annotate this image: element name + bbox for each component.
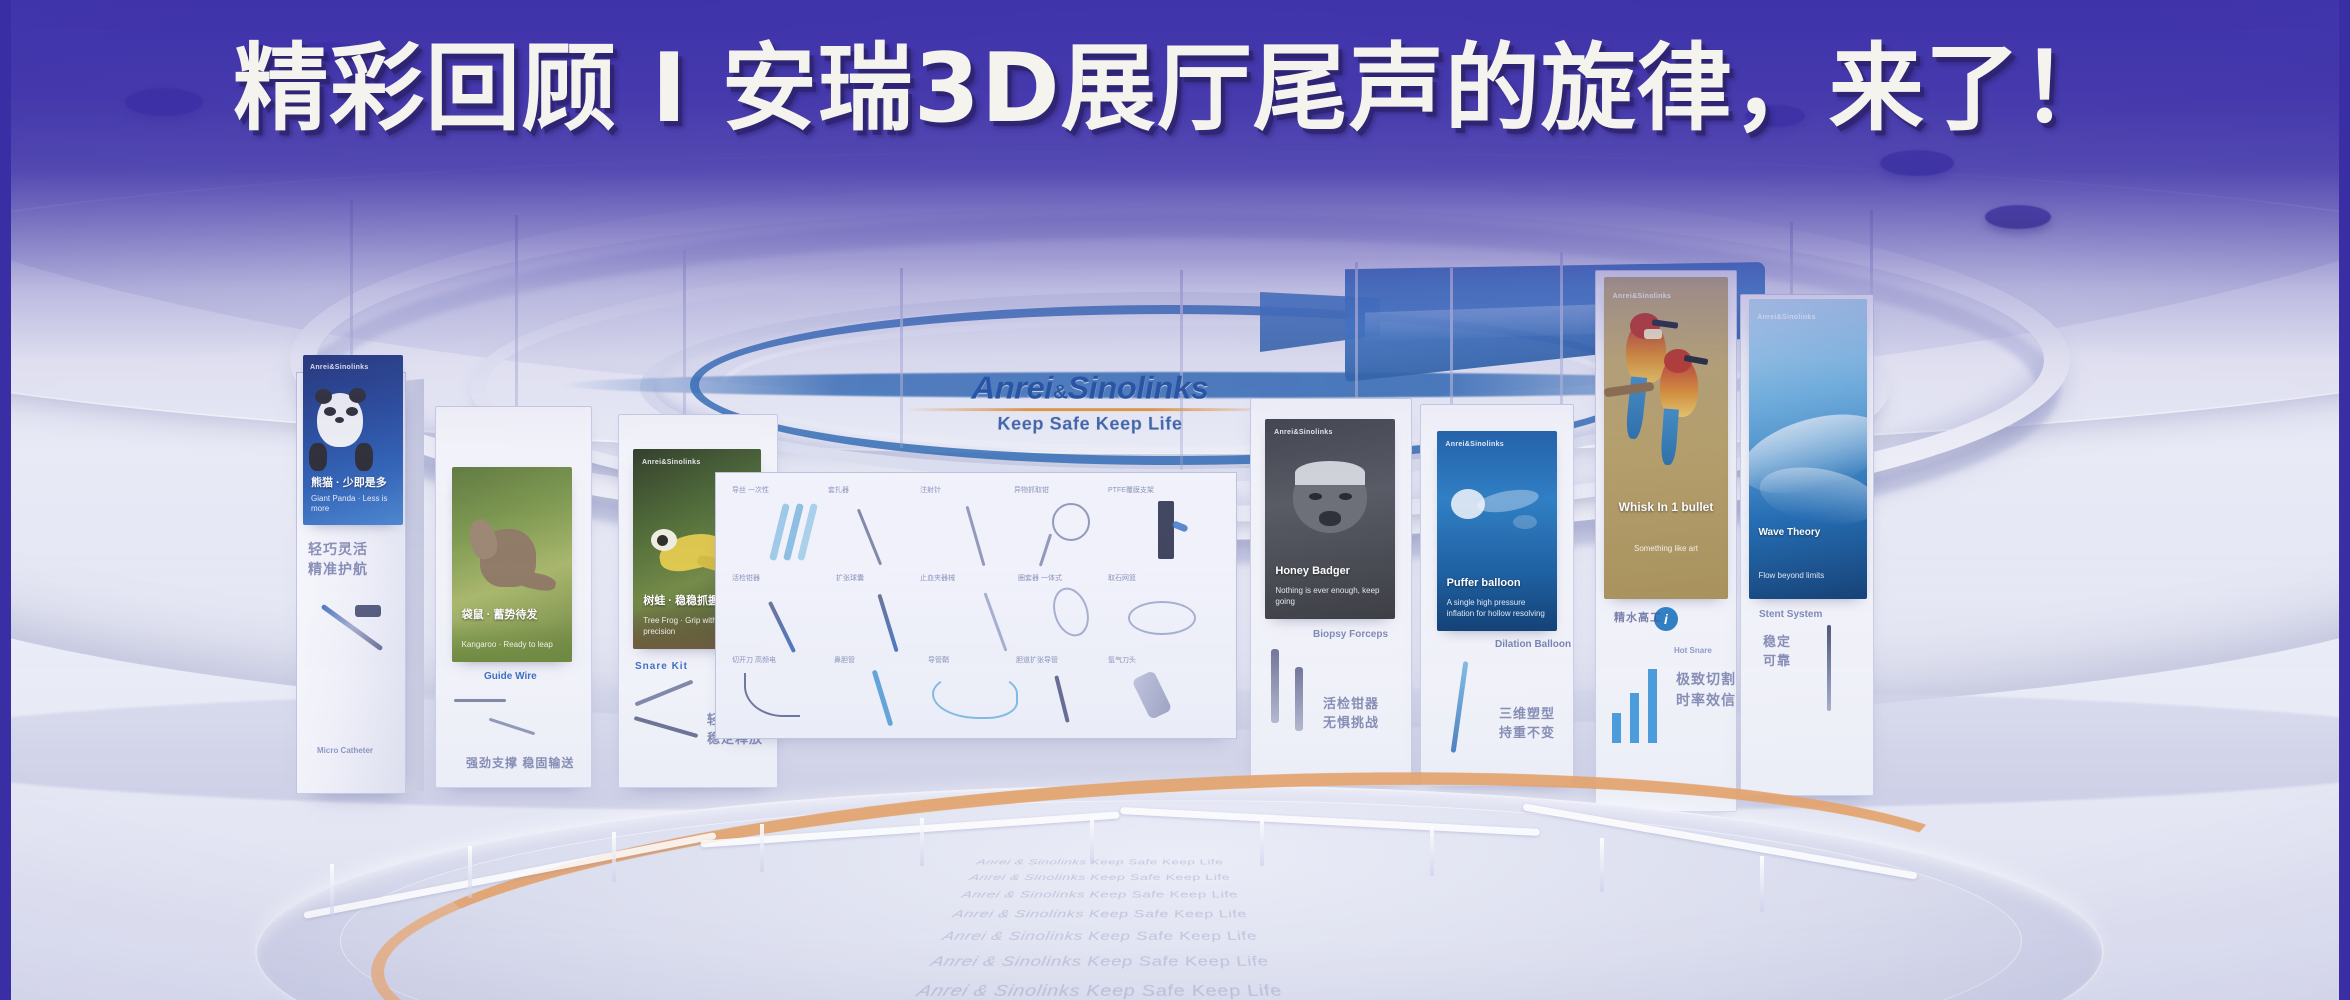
poster-honey-badger[interactable]: Anrei&Sinolinks Honey Badger Nothing is … [1265, 419, 1395, 619]
product-tool-icon [1052, 503, 1090, 541]
exhibition-hall-scene: Anrei&Sinolinks Keep Safe Keep Life Anre… [0, 0, 2350, 1000]
product-tool-icon [744, 673, 800, 717]
exhibit-panel-puffer[interactable]: Anrei&Sinolinks Puffer balloon A single … [1420, 404, 1574, 786]
product-tool-icon [966, 506, 986, 566]
poster-title: Whisk In 1 bullet [1614, 500, 1718, 515]
poster-caption-en: Stent System [1759, 607, 1822, 622]
poster-caption-cn: 活检钳器 无惧挑战 [1323, 695, 1379, 733]
poster-brand: Anrei&Sinolinks [310, 364, 369, 371]
stage-rail-post [1430, 826, 1434, 876]
product-tool-icon [1295, 667, 1303, 731]
stage-rail-post [920, 818, 924, 866]
poster-panda[interactable]: Anrei&Sinolinks 熊猫 · 少即是多 Giant Panda · … [303, 355, 403, 525]
product-tool-icon [872, 670, 894, 727]
poster-subtitle: Giant Panda · Less is more [311, 494, 395, 515]
stage-rail-post [1600, 838, 1604, 892]
frame-border-right [2339, 0, 2350, 1000]
poster-wave[interactable]: Anrei&Sinolinks Wave Theory Flow beyond … [1749, 299, 1867, 599]
product-tool-icon [1271, 649, 1279, 723]
product-tool-icon [877, 594, 898, 653]
exhibit-panel-row: Anrei&Sinolinks 熊猫 · 少即是多 Giant Panda · … [300, 390, 2060, 810]
product-tool-icon [489, 718, 536, 736]
poster-title: 熊猫 · 少即是多 [311, 477, 395, 491]
product-tool-icon [1054, 675, 1069, 723]
exhibit-panel-kangaroo[interactable]: 袋鼠 · 蓄势待发 Kangaroo · Ready to leap Guide… [435, 406, 592, 788]
product-cell-label: 胆道扩张导管 [1016, 655, 1058, 665]
product-cell-label: 切开刀 高频电 [732, 655, 776, 665]
poster-title: 袋鼠 · 蓄势待发 [462, 609, 563, 623]
poster-title: Puffer balloon [1447, 577, 1548, 591]
product-cell-label: 异物抓取钳 [1014, 485, 1049, 495]
poster-bee-eater[interactable]: Anrei&Sinolinks Whisk In 1 bullet Someth… [1604, 277, 1728, 599]
floor-text-line: Anrei & Sinolinks Keep Safe Keep Life [675, 870, 1524, 886]
poster-subtitle: Nothing is ever enough, keep going [1275, 586, 1384, 607]
product-tool-icon [983, 592, 1007, 651]
product-tool-icon [1451, 661, 1469, 753]
poster-kangaroo[interactable]: 袋鼠 · 蓄势待发 Kangaroo · Ready to leap [452, 467, 572, 662]
poster-puffer[interactable]: Anrei&Sinolinks Puffer balloon A single … [1437, 431, 1557, 631]
stage-rail-post [1760, 856, 1764, 912]
product-cell-label: 注射针 [920, 485, 941, 495]
product-cell-label: 取石网篮 [1108, 573, 1136, 583]
poster-subtitle: A single high pressure inflation for hol… [1447, 598, 1548, 619]
poster-subtitle: Flow beyond limits [1758, 571, 1857, 581]
product-tool-icon [1132, 670, 1173, 720]
product-cell-label: 鼻胆管 [834, 655, 855, 665]
poster-caption-cn: 三维塑型 持重不变 [1499, 705, 1555, 743]
stage-rail-post [468, 846, 472, 898]
poster-brand: Anrei&Sinolinks [1274, 429, 1333, 436]
banner-headline: 精彩回顾 I 安瑞3D展厅尾声的旋律，来了！ [0, 30, 2350, 148]
product-tool-icon [1039, 533, 1052, 566]
floor-text-line: Anrei & Sinolinks Keep Safe Keep Life [499, 976, 1701, 1000]
stage-rail-post [1260, 818, 1264, 866]
product-tool-icon [355, 605, 381, 617]
floor-text-line: Anrei & Sinolinks Keep Safe Keep Life [619, 904, 1581, 925]
poster-caption-cn: 轻巧灵活 精准护航 [308, 539, 368, 580]
product-tool-icon [768, 601, 796, 653]
stage-rail-post [330, 864, 334, 918]
product-tool-icon [454, 699, 506, 702]
product-cell-label: 圈套器 一体式 [1018, 573, 1062, 583]
product-cell-label: 扩张球囊 [836, 573, 864, 583]
spotlight-icon [1985, 205, 2051, 229]
poster-subtitle: Kangaroo · Ready to leap [462, 640, 563, 650]
product-tool-icon [932, 673, 1018, 719]
poster-brand: Anrei&Sinolinks [642, 459, 701, 466]
spotlight-icon [1880, 150, 1954, 176]
poster-caption-en: Micro Catheter [317, 745, 373, 757]
poster-caption-en: Biopsy Forceps [1313, 627, 1388, 642]
stage-rail-post [1090, 816, 1094, 864]
floor-text-line: Anrei & Sinolinks Keep Safe Keep Life [545, 948, 1654, 975]
poster-subtitle: Something like art [1614, 544, 1718, 554]
product-cell-label: 止血夹器械 [920, 573, 955, 583]
exhibit-panel-badger[interactable]: Anrei&Sinolinks Honey Badger Nothing is … [1250, 398, 1412, 786]
exhibit-panel-bee-eater[interactable]: Anrei&Sinolinks Whisk In 1 bullet Someth… [1595, 270, 1737, 812]
product-tool-icon [635, 680, 694, 707]
product-tool-icon [1158, 501, 1174, 559]
stage-rail-post [760, 824, 764, 872]
product-matrix-board[interactable]: 导丝 一次性 套扎器 注射针 异物抓取钳 PTFE覆膜支架 活检钳器 扩张球囊 [715, 472, 1237, 739]
product-tool-icon [1827, 625, 1831, 711]
poster-caption-en: Hot Snare [1674, 645, 1712, 657]
floor-text-line: Anrei & Sinolinks Keep Safe Keep Life [649, 886, 1551, 904]
poster-brand: Anrei&Sinolinks [1445, 441, 1504, 448]
product-cell-label: 氩气刀头 [1108, 655, 1136, 665]
poster-title: Wave Theory [1758, 527, 1857, 540]
bird-panel-bar-chart [1608, 663, 1670, 743]
product-cell-label: 导管鞘 [928, 655, 949, 665]
product-cell-label: PTFE覆膜支架 [1108, 485, 1154, 495]
exhibit-kiosk-panda[interactable]: Anrei&Sinolinks 熊猫 · 少即是多 Giant Panda · … [296, 372, 406, 794]
exhibit-panel-wave[interactable]: Anrei&Sinolinks Wave Theory Flow beyond … [1740, 294, 1874, 796]
poster-title: Honey Badger [1275, 565, 1384, 579]
product-tool-icon [1128, 601, 1196, 635]
product-tool-icon [857, 509, 882, 566]
stage-rail-post [612, 832, 616, 882]
product-tool-icon [1047, 583, 1095, 641]
product-cell-label: 套扎器 [828, 485, 849, 495]
frame-border-left [0, 0, 11, 1000]
banner-root: Anrei&Sinolinks Keep Safe Keep Life Anre… [0, 0, 2350, 1000]
poster-caption-cn: 极致切割 时率效信 [1676, 669, 1736, 711]
product-tool-icon [634, 716, 699, 738]
floor-text-line: Anrei & Sinolinks Keep Safe Keep Life [585, 925, 1615, 949]
brand-circle-label: 精水高工 [1614, 611, 1662, 627]
product-cell-label: 活检钳器 [732, 573, 760, 583]
poster-brand: Anrei&Sinolinks [1757, 314, 1816, 321]
poster-brand: Anrei&Sinolinks [1613, 293, 1672, 300]
poster-caption-cn: 强劲支撑 稳固输送 [466, 755, 574, 772]
product-cell-label: 导丝 一次性 [732, 485, 769, 495]
floor-text-line: Anrei & Sinolinks Keep Safe Keep Life [699, 855, 1501, 870]
poster-caption-en: Guide Wire [484, 669, 537, 684]
poster-caption-cn: 稳定 可靠 [1763, 633, 1791, 671]
poster-caption-en: Dilation Balloon [1495, 637, 1571, 652]
poster-caption-en: Snare Kit [635, 659, 688, 674]
